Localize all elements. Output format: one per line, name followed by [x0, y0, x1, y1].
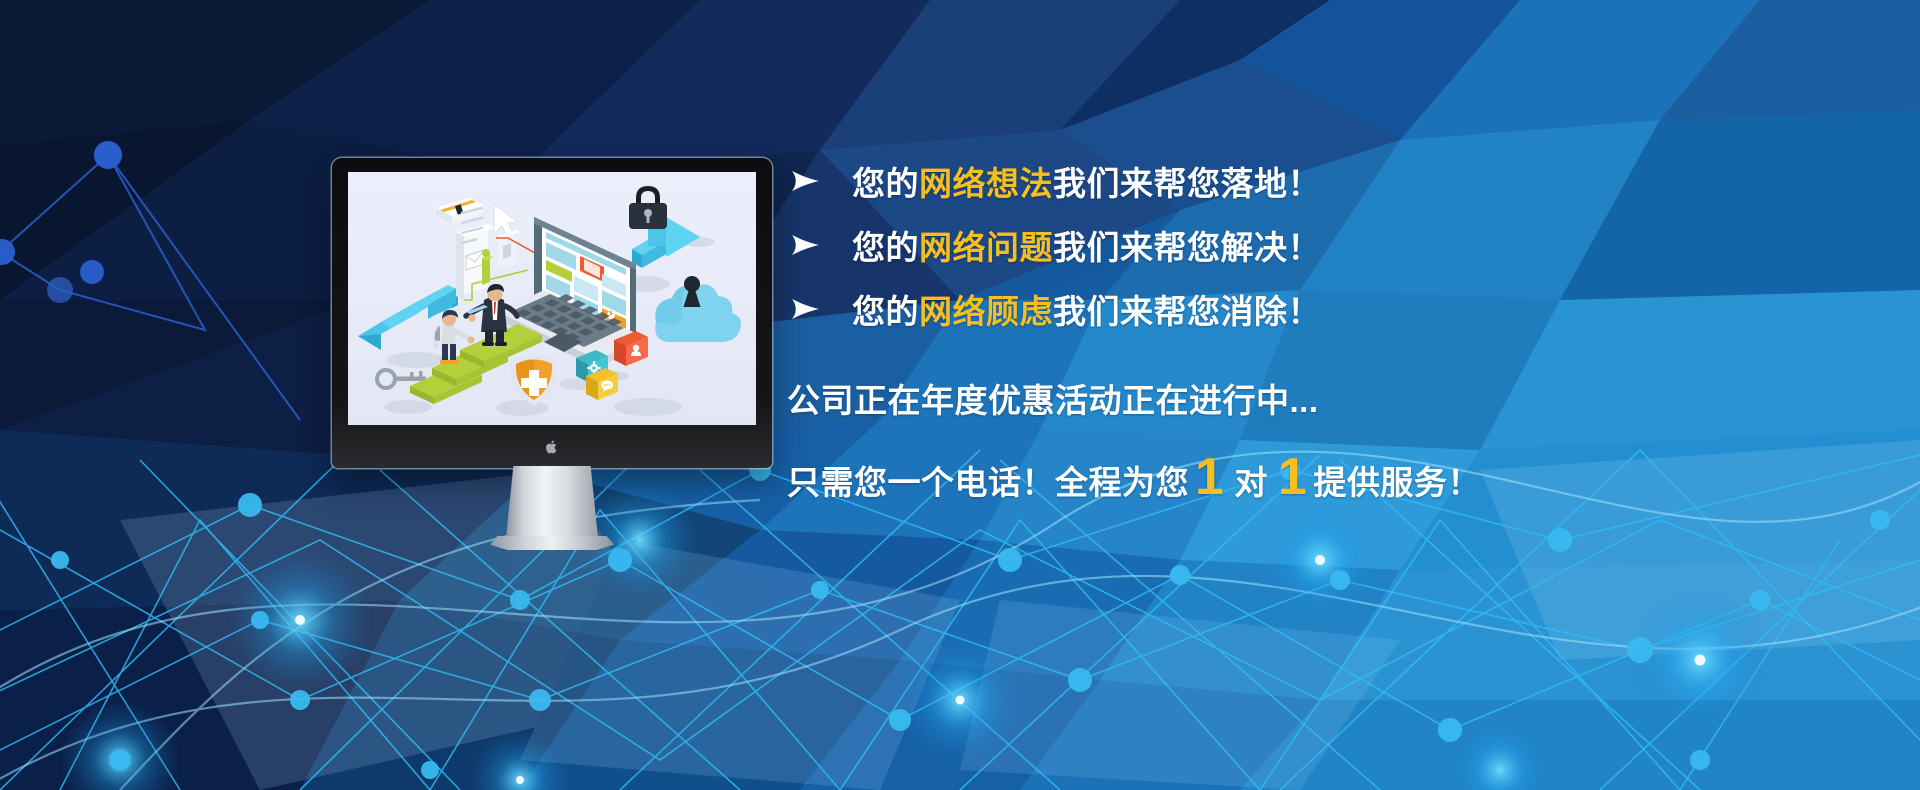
- promo-2-part-2: 提供服务！: [1313, 456, 1481, 504]
- bullet-1-highlight: 网络想法: [919, 165, 1053, 202]
- arrow-marker-icon: [790, 170, 830, 192]
- promo-2-number-1: 1: [1189, 454, 1230, 501]
- monitor-stand-base: [490, 536, 614, 550]
- list-item: 您的网络问题我们来帮您解决！: [790, 214, 1650, 276]
- marketing-copy: 您的网络想法我们来帮您落地！ 您的网络问题我们来帮您解决！ 您的网络顾虑我们来帮…: [790, 150, 1650, 504]
- isometric-illustration: [348, 172, 756, 425]
- bullet-1-post: 我们来帮您落地！: [1053, 165, 1321, 202]
- apple-logo: [546, 439, 559, 455]
- bullet-1-pre: 您的: [852, 165, 919, 202]
- monitor-screen: [348, 172, 756, 425]
- monitor-stand-neck: [506, 466, 598, 538]
- list-item: 您的网络想法我们来帮您落地！: [790, 150, 1650, 212]
- promo-banner: 您的网络想法我们来帮您落地！ 您的网络问题我们来帮您解决！ 您的网络顾虑我们来帮…: [0, 0, 1920, 790]
- bullet-2-post: 我们来帮您解决！: [1053, 229, 1321, 266]
- bullet-2-pre: 您的: [852, 229, 919, 266]
- promo-2-middle: 对: [1230, 456, 1272, 504]
- promo-line-1: 公司正在年度优惠活动正在进行中...: [787, 374, 1650, 422]
- bullet-3-pre: 您的: [852, 293, 919, 330]
- promo-2-part-1: 只需您一个电话！全程为您: [787, 456, 1189, 504]
- arrow-marker-icon: [790, 234, 830, 256]
- promo-2-number-2: 1: [1272, 454, 1313, 501]
- promo-line-2: 只需您一个电话！全程为您 1 对 1 提供服务！: [787, 454, 1650, 504]
- bullet-3-highlight: 网络顾虑: [919, 293, 1053, 330]
- bullet-text-3: 您的网络顾虑我们来帮您消除！: [852, 285, 1321, 333]
- monitor-bezel: [332, 158, 772, 468]
- bullet-3-post: 我们来帮您消除！: [1053, 293, 1321, 330]
- bullet-text-1: 您的网络想法我们来帮您落地！: [852, 157, 1321, 205]
- monitor-chin: [332, 425, 772, 468]
- imac-monitor: [332, 158, 772, 558]
- bullet-2-highlight: 网络问题: [919, 229, 1053, 266]
- arrow-marker-icon: [790, 298, 830, 320]
- bullet-text-2: 您的网络问题我们来帮您解决！: [852, 221, 1321, 269]
- list-item: 您的网络顾虑我们来帮您消除！: [790, 278, 1650, 340]
